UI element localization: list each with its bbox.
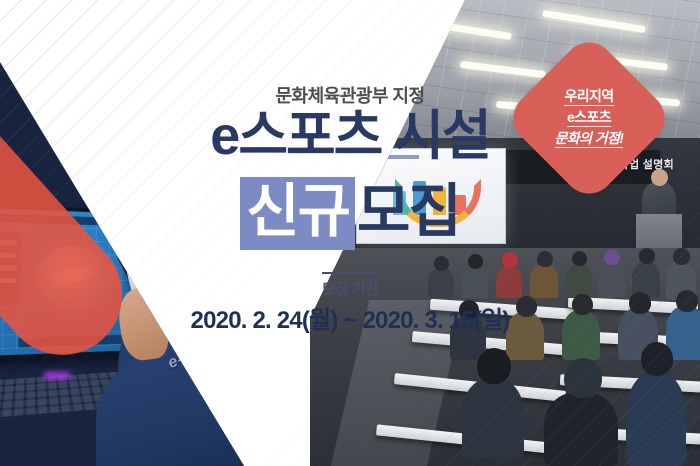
audience-member — [459, 300, 479, 320]
audience-member — [673, 248, 690, 265]
audience-member — [506, 312, 544, 360]
audience-member — [676, 290, 698, 312]
audience-member — [629, 292, 651, 314]
audience-member — [598, 262, 625, 298]
badge-line-3: 문화의 거점! — [555, 130, 624, 148]
audience-member — [496, 266, 522, 298]
audience-member — [562, 310, 600, 360]
player-lanyard — [231, 307, 287, 337]
audience-member-cap — [502, 252, 518, 268]
audience-member — [626, 372, 686, 466]
audience-member — [566, 264, 592, 298]
audience-member — [641, 342, 673, 376]
badge-line-1: 우리지역 — [564, 88, 613, 106]
game-ui-right-panel — [147, 236, 178, 292]
audience-member — [537, 251, 553, 267]
player-head — [152, 246, 244, 332]
badge-line-2: e스포츠 — [567, 109, 611, 127]
badge-text-group: 우리지역 e스포츠 문화의 거점! — [528, 57, 650, 179]
vr-headset-icon — [121, 227, 226, 299]
audience-member — [434, 256, 449, 271]
poster-canvas: e-SPORTS 사업 설명회 — [0, 0, 700, 466]
audience-member — [572, 251, 587, 266]
audience-member — [462, 266, 488, 298]
audience-member — [477, 348, 511, 384]
audience-member — [639, 248, 655, 264]
audience-member — [530, 264, 558, 298]
audience-member — [516, 296, 537, 317]
jersey-text: e-SPORTS — [166, 325, 250, 373]
slide-title-placeholder — [365, 155, 419, 159]
region-hub-badge: 우리지역 e스포츠 문화의 거점! — [528, 57, 650, 179]
audience-member-cap — [564, 358, 602, 398]
keyboard-rgb-glow — [44, 372, 70, 379]
audience-member-cap — [604, 249, 620, 265]
slide-arc-graphic — [395, 179, 481, 227]
audience-member — [572, 294, 593, 315]
audience-member — [462, 378, 524, 458]
slide-chart — [377, 171, 485, 229]
projection-screen — [356, 148, 506, 244]
audience-member — [544, 392, 618, 466]
audience-member — [468, 254, 483, 269]
headline-highlight-mark: 신규 — [240, 177, 355, 250]
audience-member — [428, 268, 454, 298]
